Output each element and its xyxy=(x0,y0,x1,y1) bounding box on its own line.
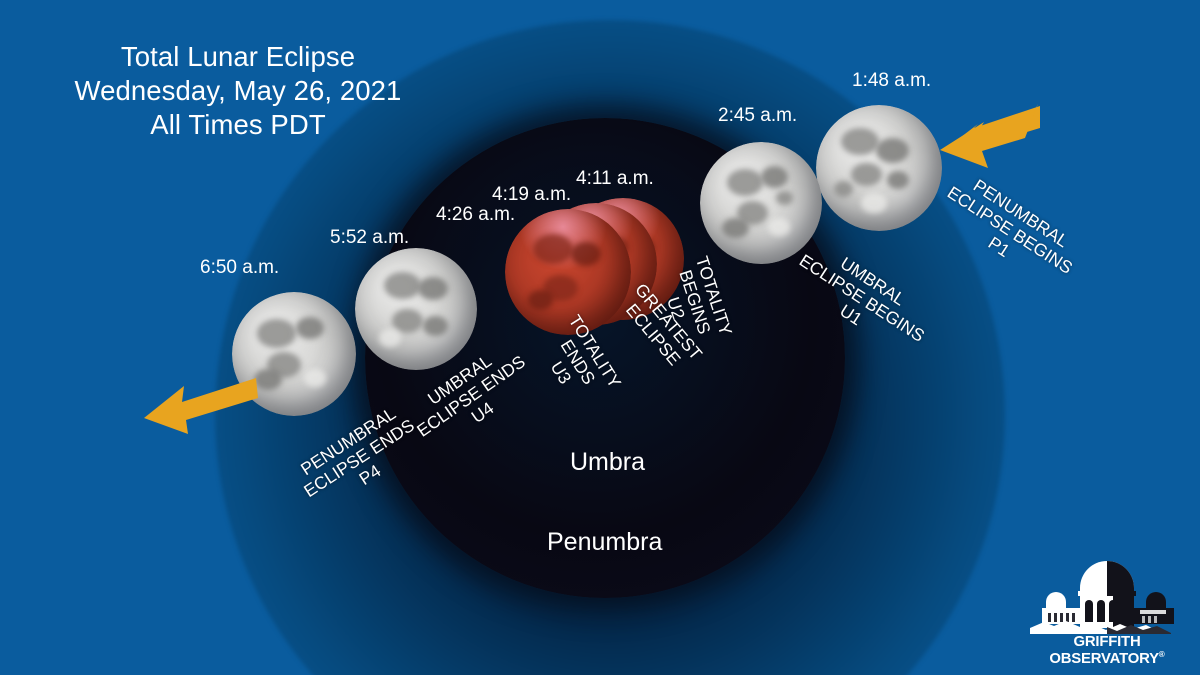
logo-wordmark: GRIFFITH OBSERVATORY® xyxy=(1026,634,1187,667)
observatory-building-icon xyxy=(1028,558,1186,634)
time-label-greatest-eclipse: 4:19 a.m. xyxy=(492,184,571,206)
moon-u4 xyxy=(355,248,477,370)
penumbra-label: Penumbra xyxy=(547,528,662,557)
title-line-2: Wednesday, May 26, 2021 xyxy=(48,74,428,108)
time-label-u1: 2:45 a.m. xyxy=(718,105,797,127)
umbra-label: Umbra xyxy=(570,448,645,477)
eclipse-infographic: Total Lunar Eclipse Wednesday, May 26, 2… xyxy=(0,0,1200,675)
page-title: Total Lunar Eclipse Wednesday, May 26, 2… xyxy=(48,40,428,142)
time-label-u3: 4:26 a.m. xyxy=(436,204,515,226)
registered-trademark-icon: ® xyxy=(1159,650,1165,659)
time-label-p4: 6:50 a.m. xyxy=(200,257,279,279)
time-label-u4: 5:52 a.m. xyxy=(330,227,409,249)
arrow-right-direction xyxy=(922,98,1042,180)
griffith-observatory-logo: GRIFFITH OBSERVATORY® xyxy=(1028,558,1186,658)
time-label-p1: 1:48 a.m. xyxy=(852,70,931,92)
time-label-u2: 4:11 a.m. xyxy=(576,168,654,190)
logo-wordmark-text: GRIFFITH OBSERVATORY xyxy=(1049,634,1158,667)
title-line-1: Total Lunar Eclipse xyxy=(48,40,428,74)
title-line-3: All Times PDT xyxy=(48,108,428,142)
arrow-left-direction xyxy=(140,368,260,440)
